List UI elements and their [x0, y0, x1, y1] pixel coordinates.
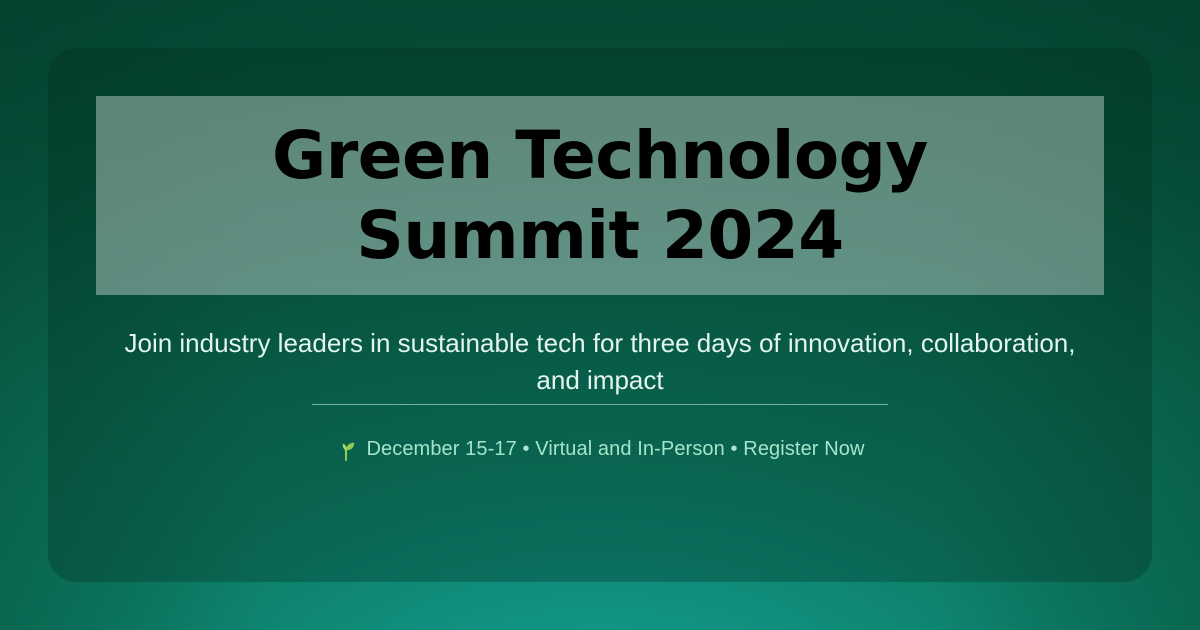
title-band: Green Technology Summit 2024 — [96, 96, 1104, 295]
banner-card: Green Technology Summit 2024 Join indust… — [48, 48, 1152, 582]
page-title: Green Technology Summit 2024 — [240, 116, 960, 274]
event-meta-line: December 15-17 • Virtual and In-Person •… — [96, 437, 1104, 461]
event-banner: Green Technology Summit 2024 Join indust… — [0, 0, 1200, 630]
seedling-icon — [335, 437, 357, 461]
event-meta-text: December 15-17 • Virtual and In-Person •… — [366, 438, 864, 461]
divider — [312, 404, 888, 405]
banner-subtitle: Join industry leaders in sustainable tec… — [96, 325, 1104, 399]
